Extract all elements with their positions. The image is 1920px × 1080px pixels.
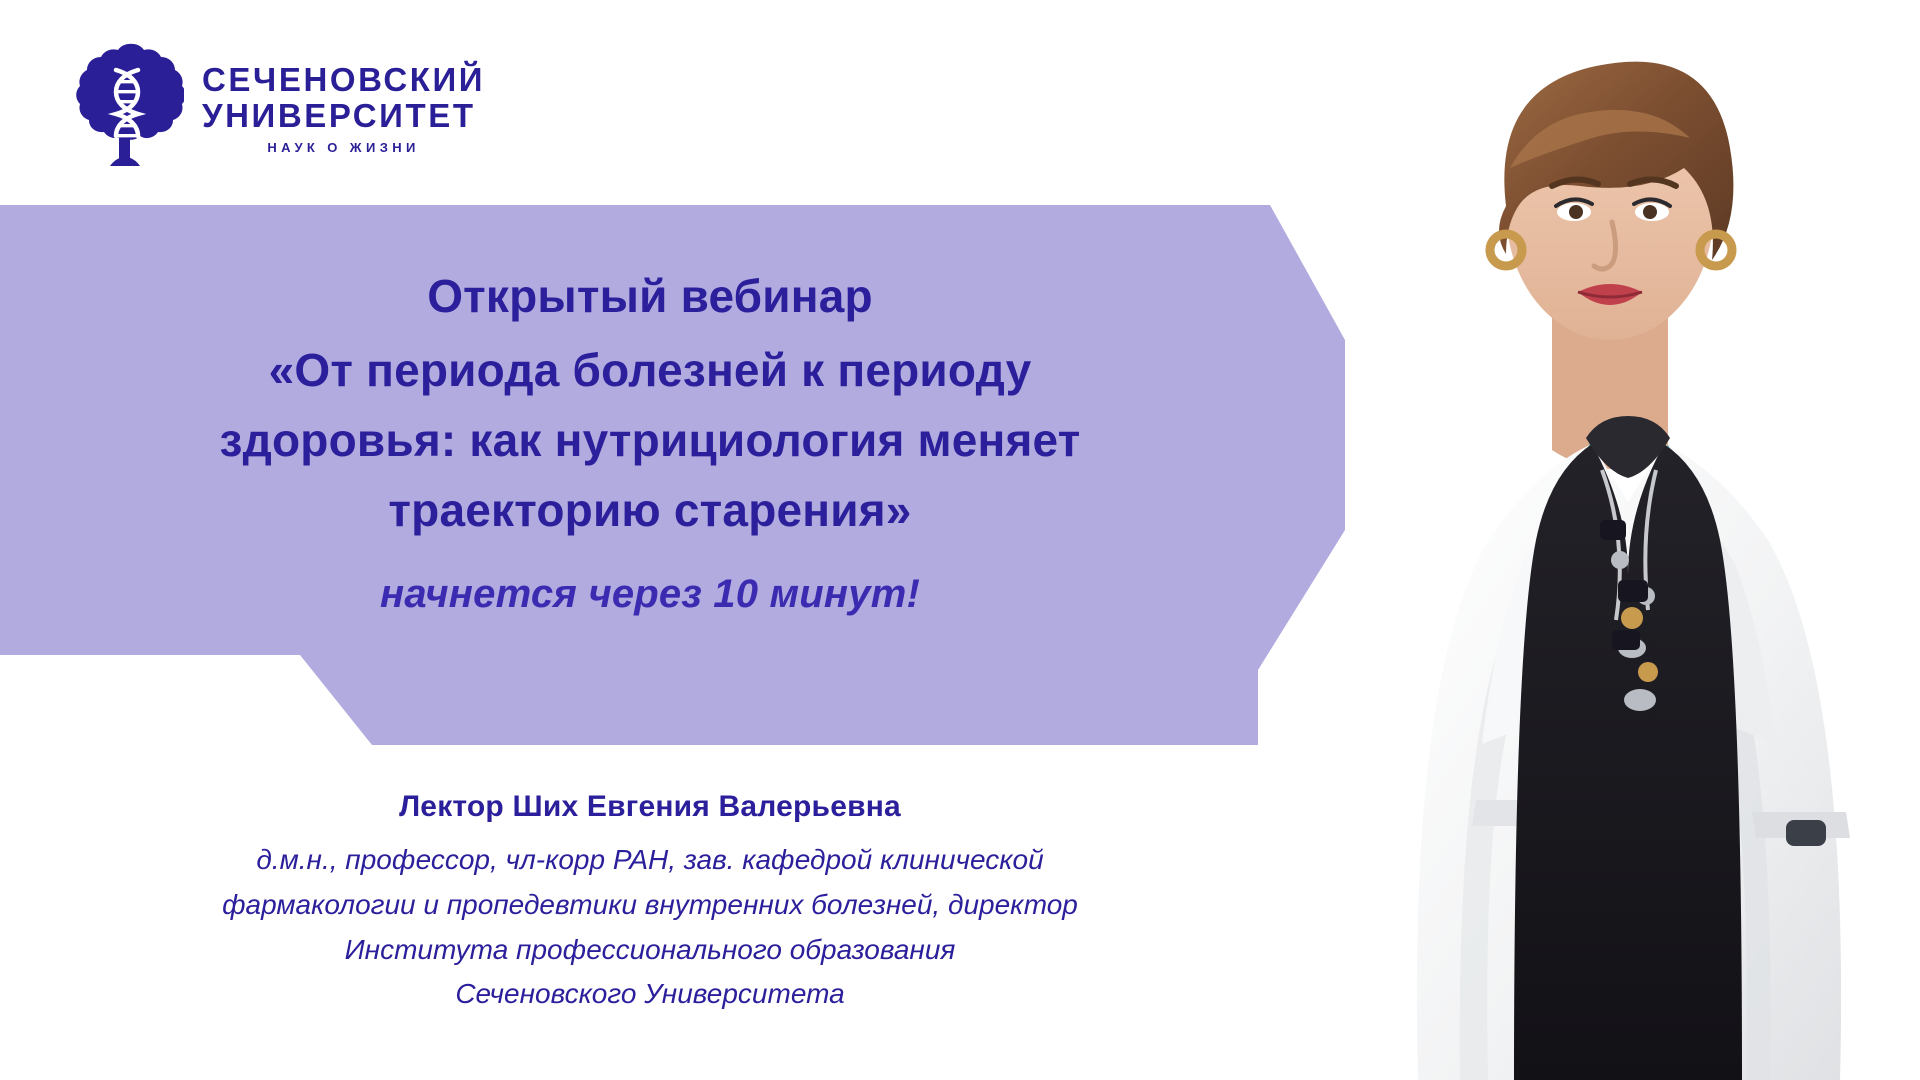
logo-line-2: УНИВЕРСИТЕТ — [202, 98, 485, 134]
announcement-title-line-3: траекторию старения» — [0, 476, 1300, 546]
lecturer-bio-line-4: Сеченовского Университета — [0, 972, 1300, 1017]
logo-tagline: НАУК О ЖИЗНИ — [202, 140, 485, 155]
announcement-heading: Открытый вебинар — [0, 262, 1300, 332]
lecturer-portrait — [1300, 0, 1920, 1080]
announcement-title-line-1: «От периода болезней к периоду — [0, 336, 1300, 406]
countdown-text: начнется через 10 минут! — [0, 572, 1300, 617]
announcement-text-block: Открытый вебинар «От периода болезней к … — [0, 262, 1300, 617]
university-logo: СЕЧЕНОВСКИЙ УНИВЕРСИТЕТ НАУК О ЖИЗНИ — [66, 40, 485, 168]
logo-line-1: СЕЧЕНОВСКИЙ — [202, 62, 485, 98]
lecturer-bio-line-2: фармакологии и пропедевтики внутренних б… — [0, 883, 1300, 928]
lecturer-bio-line-1: д.м.н., профессор, чл-корр РАН, зав. каф… — [0, 838, 1300, 883]
lecturer-name: Лектор Ших Евгения Валерьевна — [0, 790, 1300, 824]
lecturer-block: Лектор Ших Евгения Валерьевна д.м.н., пр… — [0, 790, 1300, 1017]
tree-dna-icon — [66, 40, 184, 168]
lecturer-bio-line-3: Института профессионального образования — [0, 928, 1300, 973]
announcement-title-line-2: здоровья: как нутрициология меняет — [0, 406, 1300, 476]
